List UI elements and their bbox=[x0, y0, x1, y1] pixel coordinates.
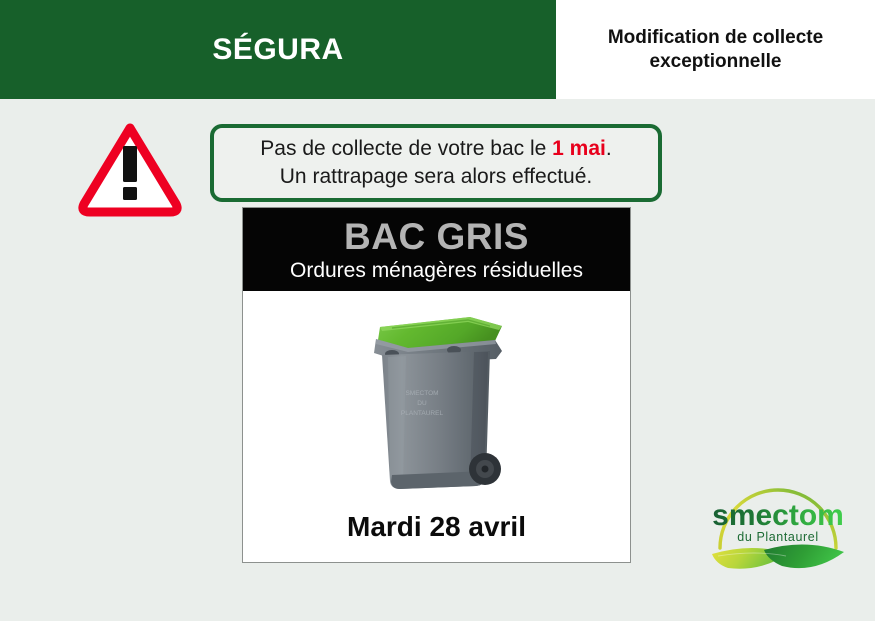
bin-emboss-line-1: SMECTOM bbox=[405, 390, 438, 397]
page-header: SÉGURA Modification de collecte exceptio… bbox=[0, 0, 875, 99]
smectom-logo: smectom du Plantaurel bbox=[698, 468, 858, 586]
warning-triangle-icon bbox=[78, 120, 182, 220]
notice-line-2: exceptionnelle bbox=[650, 51, 782, 72]
message-line-1: Pas de collecte de votre bac le 1 mai. bbox=[260, 135, 611, 163]
page-title: SÉGURA bbox=[212, 33, 343, 67]
logo-tagline: du Plantaurel bbox=[737, 530, 818, 544]
bac-gris-card: BAC GRIS Ordures ménagères résiduelles bbox=[242, 207, 631, 563]
message-line-2: Un rattrapage sera alors effectué. bbox=[280, 163, 592, 191]
bin-emboss-line-3: PLANTAUREL bbox=[400, 410, 443, 417]
message-prefix: Pas de collecte de votre bac le bbox=[260, 137, 552, 160]
bac-card-body: SMECTOM DU PLANTAUREL Mardi 28 avril bbox=[243, 291, 630, 562]
message-suffix: . bbox=[606, 137, 612, 160]
waste-bin-icon: SMECTOM DU PLANTAUREL bbox=[362, 299, 512, 504]
commune-band: SÉGURA bbox=[0, 0, 556, 99]
notice-line-1: Modification de collecte bbox=[608, 27, 823, 48]
logo-wordmark: smectom bbox=[712, 499, 844, 532]
notice-text: Modification de collecte exceptionnelle bbox=[600, 26, 831, 74]
collection-date: Mardi 28 avril bbox=[243, 511, 630, 543]
collection-message-box: Pas de collecte de votre bac le 1 mai. U… bbox=[210, 124, 662, 202]
notice-band: Modification de collecte exceptionnelle bbox=[556, 0, 875, 99]
bac-card-subtitle: Ordures ménagères résiduelles bbox=[290, 258, 583, 283]
bac-card-title: BAC GRIS bbox=[344, 218, 529, 257]
message-date-highlight: 1 mai bbox=[552, 137, 606, 160]
bac-card-banner: BAC GRIS Ordures ménagères résiduelles bbox=[243, 208, 630, 291]
bin-emboss-line-2: DU bbox=[417, 400, 427, 407]
